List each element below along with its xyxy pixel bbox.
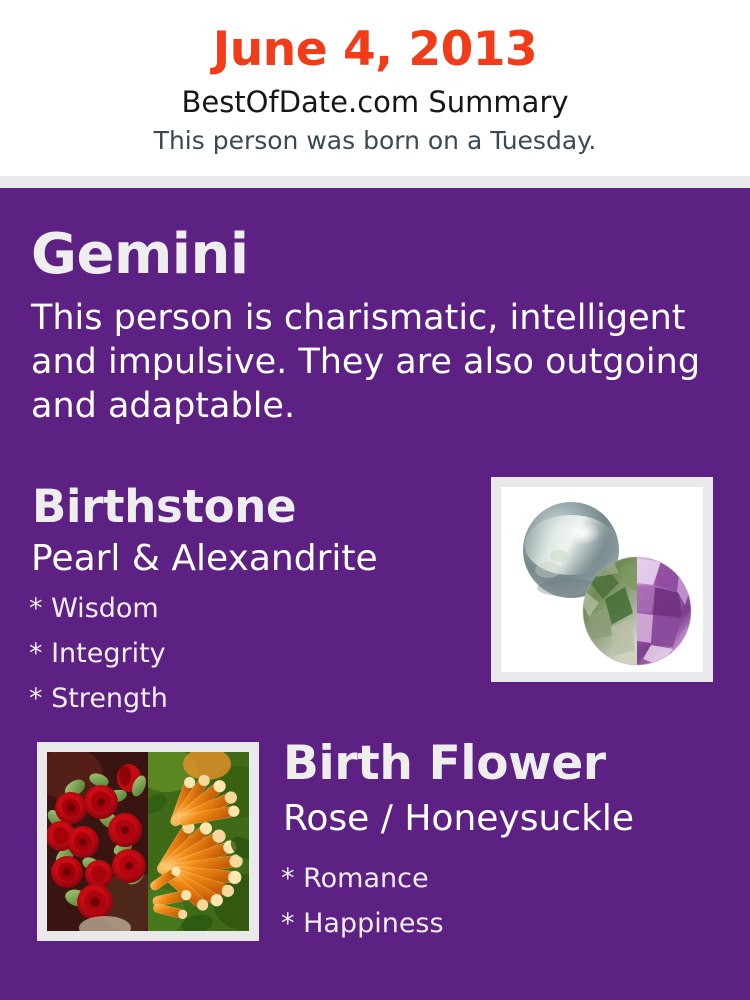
list-item: * Strength (29, 676, 459, 721)
list-item: * Wisdom (29, 586, 459, 631)
header-divider (0, 176, 750, 188)
birthstone-heading: Birthstone (32, 480, 296, 534)
birth-flower-image-frame (37, 742, 259, 941)
birth-flower-traits-list: * Romance * Happiness (281, 856, 711, 946)
header: June 4, 2013 BestOfDate.com Summary This… (0, 0, 750, 176)
list-item: * Romance (281, 856, 711, 901)
zodiac-sign-name: Gemini (31, 222, 249, 288)
born-weekday-text: This person was born on a Tuesday. (0, 125, 750, 157)
page-title: June 4, 2013 (0, 21, 750, 79)
rose-and-honeysuckle-icon (47, 752, 249, 931)
birthstone-name: Pearl & Alexandrite (31, 537, 378, 581)
birthstone-traits-list: * Wisdom * Integrity * Strength (29, 586, 459, 721)
birth-flower-heading: Birth Flower (283, 735, 606, 792)
birthstone-image-frame (491, 477, 713, 682)
list-item: * Integrity (29, 631, 459, 676)
zodiac-description: This person is charismatic, intelligent … (31, 296, 701, 428)
birth-flower-name: Rose / Honeysuckle (283, 797, 634, 841)
site-subtitle: BestOfDate.com Summary (0, 84, 750, 121)
pearl-and-alexandrite-icon (501, 487, 703, 672)
list-item: * Happiness (281, 901, 711, 946)
birthstone-image (501, 487, 703, 672)
birth-flower-image (47, 752, 249, 931)
summary-card: June 4, 2013 BestOfDate.com Summary This… (0, 0, 750, 1000)
